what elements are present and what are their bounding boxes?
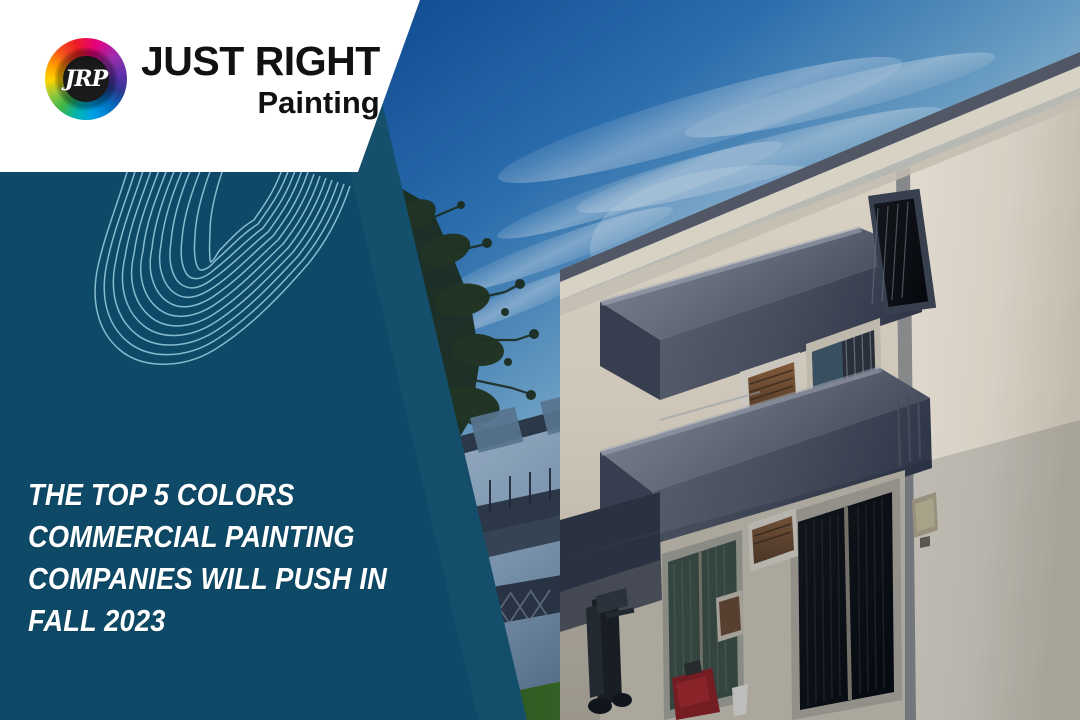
brand-wordmark: JUST RIGHT Painting	[141, 41, 380, 118]
blog-banner: JRP JUST RIGHT Painting THE TOP 5 COLORS…	[0, 0, 1080, 720]
headline-line-4: FALL 2023	[28, 600, 398, 642]
brand-name-line2: Painting	[141, 87, 380, 118]
logo-monogram: JRP	[45, 38, 127, 120]
logo-container: JRP JUST RIGHT Painting	[0, 0, 420, 172]
headline-line-2: COMMERCIAL PAINTING	[28, 516, 398, 558]
headline-line-3: COMPANIES WILL PUSH IN	[28, 558, 398, 600]
headline-line-1: THE TOP 5 COLORS	[28, 474, 398, 516]
headline-block: THE TOP 5 COLORS COMMERCIAL PAINTING COM…	[28, 474, 448, 642]
brand-name-line1: JUST RIGHT	[141, 41, 380, 82]
brand-logo[interactable]: JRP JUST RIGHT Painting	[45, 38, 380, 120]
rainbow-ring-logo-icon: JRP	[45, 38, 127, 120]
